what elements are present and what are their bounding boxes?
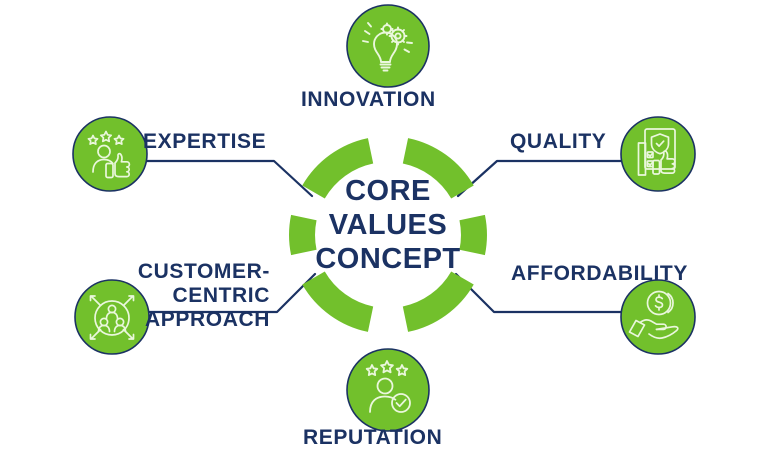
node-affordability[interactable] (621, 280, 695, 354)
label-customer-centric-line-1: CUSTOMER-CENTRIC (50, 260, 270, 308)
core-values-diagram: CORE VALUES CONCEPT (0, 0, 768, 459)
label-customer-centric: CUSTOMER-CENTRIC APPROACH (50, 260, 270, 332)
node-quality[interactable] (621, 117, 695, 191)
node-reputation[interactable] (347, 349, 429, 431)
label-innovation: INNOVATION (301, 88, 436, 112)
icon-nodes-layer (0, 0, 768, 459)
node-innovation[interactable] (347, 5, 429, 87)
node-innovation-circle[interactable] (347, 5, 429, 87)
label-expertise: EXPERTISE (143, 130, 266, 154)
node-quality-circle[interactable] (621, 117, 695, 191)
label-affordability: AFFORDABILITY (511, 262, 688, 286)
label-reputation: REPUTATION (303, 426, 442, 450)
label-customer-centric-line-2: APPROACH (50, 308, 270, 332)
node-expertise[interactable] (73, 117, 147, 191)
label-quality: QUALITY (510, 130, 606, 154)
